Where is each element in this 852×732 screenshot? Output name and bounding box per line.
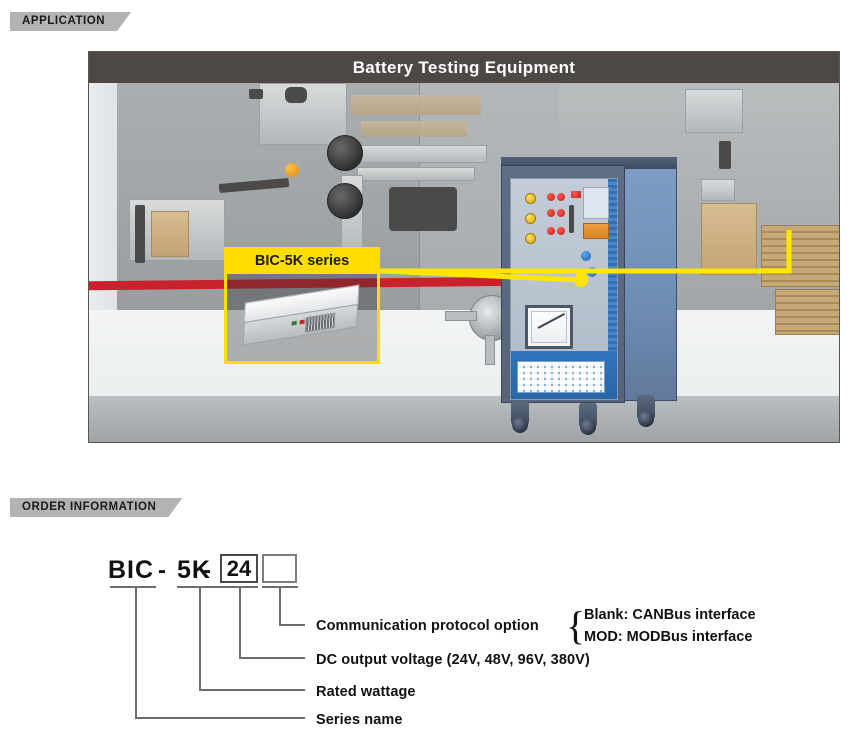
machine-fitting [285,87,307,103]
cabinet-vent-grille [517,361,605,393]
caster-wheel [637,395,655,419]
red-push-button [557,227,565,235]
product-callout: BIC-5K series [224,247,380,364]
legend-label-series-name: Series name [316,712,403,728]
machine-plate [361,121,467,137]
terminal-block [583,223,609,239]
comm-option-mod: MOD: MODBus interface [584,629,752,645]
psu-led [300,319,305,324]
red-switch [571,191,581,198]
machine-rail [357,167,475,181]
caster-wheel [511,401,529,425]
gauge-needle [538,313,565,329]
cabinet-side-panel [619,163,677,401]
section-banner-order-information: ORDER INFORMATION [10,498,182,517]
door-handle [569,205,574,233]
machine-post [135,205,145,263]
section-banner-application: APPLICATION [10,12,131,31]
valve-stem [445,311,477,321]
blue-knob [587,267,597,277]
red-push-button [557,193,565,201]
red-push-button [547,193,555,201]
brace-glyph: { [566,604,585,648]
machine-panel-box [685,89,743,133]
wood-pallet [775,289,839,335]
wooden-block [151,211,189,257]
machine-fitting [701,179,735,201]
caster-wheel [579,403,597,427]
machine-plate [351,95,481,115]
legend-label-communication: Communication protocol option [316,618,539,634]
breaker-window [583,187,609,219]
application-photo-block: Battery Testing Equipment [88,51,840,443]
machine-roller [327,183,363,219]
factory-floor [89,396,839,442]
machine-lever [719,141,731,169]
carton-box [701,203,757,275]
model-separator: - [203,557,212,585]
yellow-indicator-lamp [525,193,536,204]
model-series-text: BIC [108,556,154,585]
model-option-box [262,554,297,583]
analog-gauge [525,305,573,349]
callout-title: BIC-5K series [224,247,380,274]
gauge-face [531,311,567,343]
red-push-button [557,209,565,217]
cabinet-door [510,178,618,400]
machine-rail [347,145,487,163]
legend-label-rated-wattage: Rated wattage [316,684,416,700]
cabinet-front-frame [501,165,625,403]
bic-5k-power-supply-image [243,284,360,345]
legend-label-dc-voltage: DC output voltage (24V, 48V, 96V, 380V) [316,652,590,668]
blue-knob [581,251,591,261]
psu-led [292,321,297,326]
red-push-button [547,227,555,235]
yellow-indicator-lamp [525,213,536,224]
valve-stem [485,335,495,365]
photo-title-bar: Battery Testing Equipment [89,52,839,83]
model-voltage-box: 24 [220,554,258,583]
orange-knob [285,163,299,177]
red-push-button [547,209,555,217]
psu-vent [305,313,335,333]
order-information-diagram: BIC - 5K - 24 Communication protocol opt… [0,530,852,732]
model-separator: - [158,557,167,585]
machine-block [389,187,457,231]
battery-testing-equipment-cabinet [501,157,677,419]
machine-roller [327,135,363,171]
machine-fitting [249,89,263,99]
comm-option-blank: Blank: CANBus interface [584,607,756,623]
wood-pallet [761,225,839,287]
factory-photo: BIC-5K series [89,83,839,442]
yellow-indicator-lamp [525,233,536,244]
